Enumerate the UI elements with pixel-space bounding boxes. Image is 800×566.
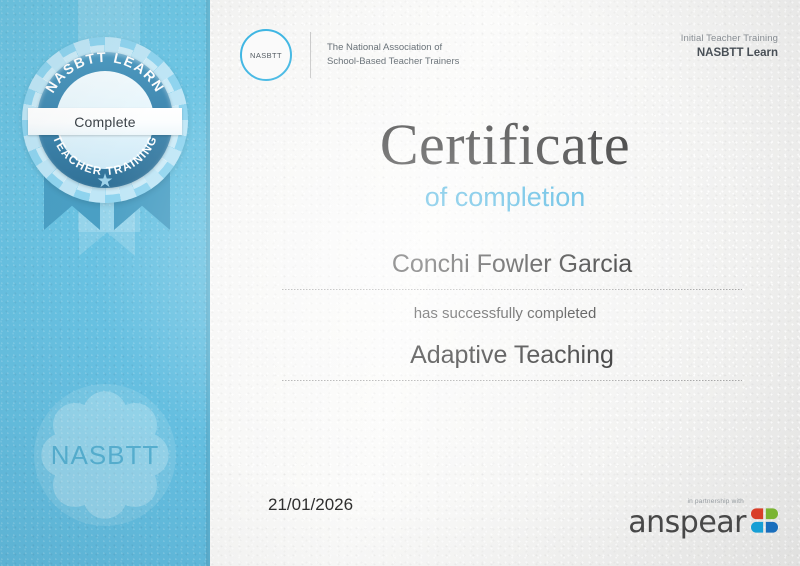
recipient-name-rule [282, 289, 742, 290]
completion-seal-badge: ★ NASBTT LEARN TEACHER TRAINING Complete [22, 37, 188, 203]
watermark-label: NASBTT [22, 440, 188, 471]
organisation-name: The National Association of School-Based… [327, 41, 459, 69]
svg-text:TEACHER TRAINING: TEACHER TRAINING [50, 134, 160, 178]
nasbtt-logo-icon: NASBTT [240, 29, 292, 81]
seal-complete-banner: Complete [28, 108, 182, 135]
course-name: Adaptive Teaching [410, 341, 614, 369]
anspear-petals-icon [751, 507, 778, 534]
anspear-logo: anspear [628, 507, 778, 536]
header-divider [310, 32, 311, 78]
partner-block: in partnership with anspear [628, 498, 778, 536]
programme-line-2: NASBTT Learn [681, 47, 778, 59]
nasbtt-watermark: NASBTT [22, 382, 188, 532]
certificate-document: ★ NASBTT LEARN TEACHER TRAINING Complete [0, 0, 800, 566]
recipient-name: Conchi Fowler Garcia [392, 250, 632, 278]
course-name-rule [282, 380, 742, 381]
anspear-wordmark: anspear [628, 509, 746, 536]
issue-date: 21/01/2026 [268, 495, 353, 515]
programme-label: Initial Teacher Training NASBTT Learn [681, 33, 778, 59]
left-blue-panel: ★ NASBTT LEARN TEACHER TRAINING Complete [0, 0, 210, 566]
recipient-name-row: Conchi Fowler Garcia [282, 250, 742, 290]
organisation-line-1: The National Association of [327, 41, 459, 55]
nasbtt-logo-label: NASBTT [250, 51, 282, 60]
certificate-title: Certificate [210, 116, 800, 174]
course-name-row: Adaptive Teaching [282, 341, 742, 381]
completion-statement: has successfully completed [210, 305, 800, 322]
organisation-line-2: School-Based Teacher Trainers [327, 55, 459, 69]
seal-banner-label: Complete [74, 114, 136, 130]
nasbtt-header-logo: NASBTT The National Association of Schoo… [240, 29, 459, 81]
partnership-text: in partnership with [628, 498, 744, 505]
panel-edge-shadow [206, 0, 210, 566]
certificate-subtitle: of completion [210, 182, 800, 213]
programme-line-1: Initial Teacher Training [681, 33, 778, 44]
